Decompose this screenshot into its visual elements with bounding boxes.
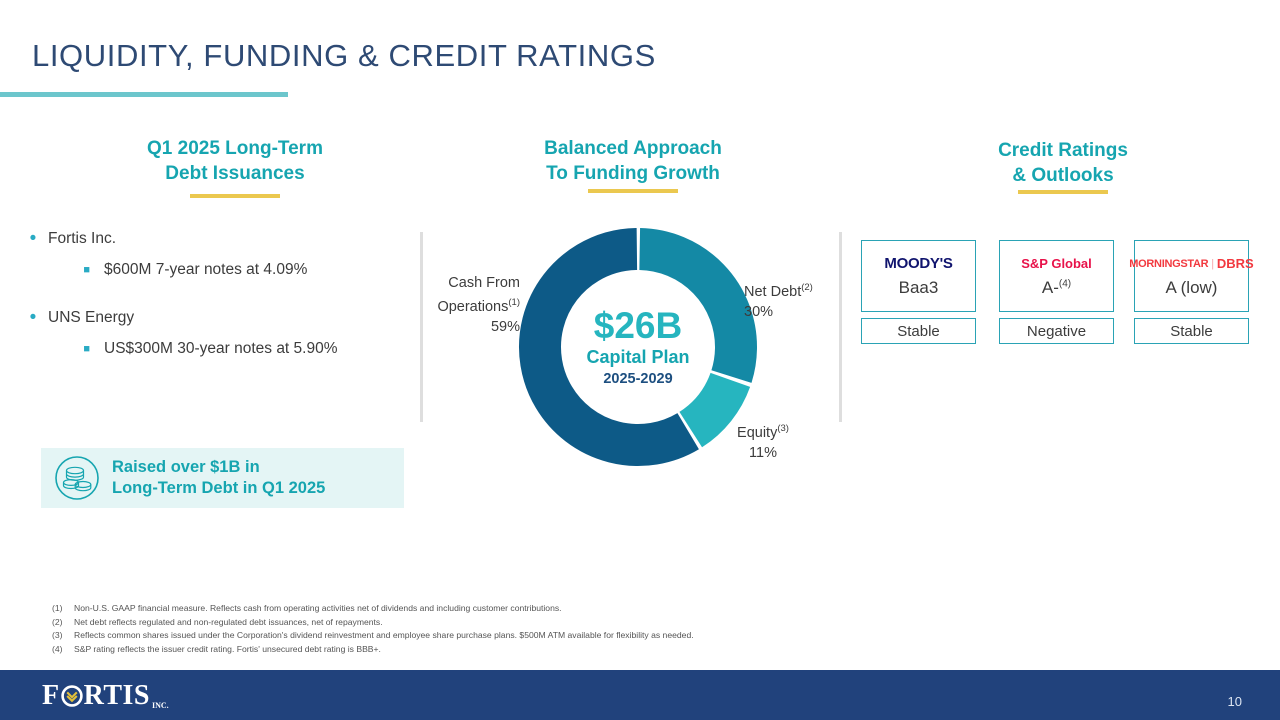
left-heading-line1: Q1 2025 Long-Term	[120, 136, 350, 161]
net-debt-name: Net Debt	[744, 284, 801, 300]
fortis-wordmark: F RTIS	[42, 680, 150, 712]
list-item: • UNS Energy	[18, 307, 408, 329]
equity-value: 11%	[715, 443, 811, 463]
rating-box-morningstar-dbrs: MORNINGSTAR | DBRS A (low)	[1134, 240, 1249, 312]
rating-column-morningstar-dbrs: MORNINGSTAR | DBRS A (low) Stable	[1134, 240, 1249, 344]
cash-ops-footnote-ref: (1)	[508, 297, 520, 308]
cash-ops-line1: Cash From	[424, 273, 520, 293]
rating-value-morningstar-dbrs: A (low)	[1166, 278, 1218, 298]
divider-left	[420, 232, 423, 422]
coins-icon	[54, 455, 100, 501]
morningstar-dbrs-logo: MORNINGSTAR | DBRS	[1129, 255, 1253, 273]
equity-name: Equity	[737, 425, 777, 441]
morningstar-wordmark: MORNINGSTAR	[1129, 255, 1208, 273]
center-column-heading: Balanced Approach To Funding Growth	[518, 136, 748, 186]
rating-column-sp-global: S&P Global A-(4) Negative	[999, 240, 1114, 344]
dbrs-rating-text: A (low)	[1166, 278, 1218, 297]
logo-divider: |	[1211, 255, 1214, 273]
capital-plan-amount: $26B	[594, 306, 682, 346]
sp-rating-text: A-	[1042, 278, 1059, 297]
issuer-name: UNS Energy	[48, 307, 134, 329]
footnote-text: Reflects common shares issued under the …	[74, 629, 694, 643]
cash-ops-value: 59%	[424, 317, 520, 337]
footnote-number: (3)	[52, 629, 74, 643]
callout-text: Raised over $1B in Long-Term Debt in Q1 …	[112, 457, 325, 499]
equity-name-row: Equity(3)	[715, 419, 811, 443]
sp-global-logo: S&P Global	[1021, 255, 1092, 273]
equity-footnote-ref: (3)	[777, 423, 789, 434]
moodys-rating-text: Baa3	[899, 278, 939, 297]
dbrs-wordmark: DBRS	[1217, 255, 1254, 273]
slice-label-net-debt: Net Debt(2) 30%	[744, 278, 854, 322]
moodys-logo: MOODY'S	[884, 255, 952, 273]
outlook-box-moodys: Stable	[861, 318, 976, 344]
footnote-text: S&P rating reflects the issuer credit ra…	[74, 643, 381, 657]
footnote-number: (2)	[52, 616, 74, 630]
outlook-box-morningstar-dbrs: Stable	[1134, 318, 1249, 344]
net-debt-name-row: Net Debt(2)	[744, 278, 854, 302]
fortis-letter-f: F	[42, 680, 60, 712]
footnote-number: (4)	[52, 643, 74, 657]
left-heading-line2: Debt Issuances	[120, 161, 350, 186]
rating-box-sp-global: S&P Global A-(4)	[999, 240, 1114, 312]
slice-label-equity: Equity(3) 11%	[715, 419, 811, 463]
title-underline-rule	[0, 92, 288, 97]
outlook-box-sp-global: Negative	[999, 318, 1114, 344]
square-bullet-icon: ■	[64, 259, 94, 281]
slice-label-cash-from-operations: Cash From Operations(1) 59%	[424, 273, 520, 337]
footnote-text: Net debt reflects regulated and non-regu…	[74, 616, 383, 630]
footnote-row: (1) Non-U.S. GAAP financial measure. Ref…	[52, 602, 952, 616]
raised-debt-callout: Raised over $1B in Long-Term Debt in Q1 …	[41, 448, 404, 508]
fortis-inc-suffix: INC.	[152, 701, 169, 712]
rating-column-moodys: MOODY'S Baa3 Stable	[861, 240, 976, 344]
list-item: • Fortis Inc.	[18, 228, 408, 250]
list-item: ■ $600M 7-year notes at 4.09%	[18, 259, 408, 281]
capital-plan-label: Capital Plan	[586, 346, 689, 369]
callout-line1: Raised over $1B in	[112, 457, 325, 478]
divider-right	[839, 232, 842, 422]
debt-group: • UNS Energy ■ US$300M 30-year notes at …	[18, 307, 408, 360]
fortis-letters-rtis: RTIS	[84, 680, 150, 712]
square-bullet-icon: ■	[64, 338, 94, 360]
center-accent-bar	[588, 189, 678, 193]
right-column-heading: Credit Ratings & Outlooks	[948, 138, 1178, 188]
debt-group: • Fortis Inc. ■ $600M 7-year notes at 4.…	[18, 228, 408, 281]
rating-value-sp-global: A-(4)	[1042, 278, 1071, 298]
list-item: ■ US$300M 30-year notes at 5.90%	[18, 338, 408, 360]
rating-value-moodys: Baa3	[899, 278, 939, 298]
footnote-row: (3) Reflects common shares issued under …	[52, 629, 952, 643]
fortis-logo: F RTIS INC.	[42, 680, 169, 712]
slide: LIQUIDITY, FUNDING & CREDIT RATINGS Q1 2…	[0, 0, 1280, 720]
bullet-icon: •	[18, 307, 48, 329]
issuance-detail: US$300M 30-year notes at 5.90%	[94, 338, 338, 360]
left-accent-bar	[190, 194, 280, 198]
center-heading-line2: To Funding Growth	[518, 161, 748, 186]
capital-plan-years: 2025-2029	[603, 369, 672, 389]
page-number: 10	[1228, 694, 1242, 709]
net-debt-footnote-ref: (2)	[801, 282, 813, 293]
footnotes: (1) Non-U.S. GAAP financial measure. Ref…	[52, 602, 952, 656]
center-heading-line1: Balanced Approach	[518, 136, 748, 161]
right-heading-line2: & Outlooks	[948, 163, 1178, 188]
right-accent-bar	[1018, 190, 1108, 194]
net-debt-value: 30%	[744, 302, 854, 322]
spacer	[18, 281, 408, 307]
fortis-o-chevron-icon	[61, 685, 83, 707]
right-heading-line1: Credit Ratings	[948, 138, 1178, 163]
rating-box-moodys: MOODY'S Baa3	[861, 240, 976, 312]
cash-ops-line2: Operations(1)	[424, 293, 520, 317]
footnote-row: (4) S&P rating reflects the issuer credi…	[52, 643, 952, 657]
sp-rating-footnote: (4)	[1059, 278, 1071, 289]
cash-ops-name: Operations	[437, 299, 508, 315]
callout-line2: Long-Term Debt in Q1 2025	[112, 478, 325, 499]
bullet-icon: •	[18, 228, 48, 250]
footnote-text: Non-U.S. GAAP financial measure. Reflect…	[74, 602, 562, 616]
footnote-row: (2) Net debt reflects regulated and non-…	[52, 616, 952, 630]
footer-bar: F RTIS INC. 10	[0, 670, 1280, 720]
debt-issuance-list: • Fortis Inc. ■ $600M 7-year notes at 4.…	[18, 228, 408, 360]
left-column-heading: Q1 2025 Long-Term Debt Issuances	[120, 136, 350, 186]
page-title: LIQUIDITY, FUNDING & CREDIT RATINGS	[32, 38, 656, 74]
footnote-number: (1)	[52, 602, 74, 616]
issuance-detail: $600M 7-year notes at 4.09%	[94, 259, 307, 281]
issuer-name: Fortis Inc.	[48, 228, 116, 250]
